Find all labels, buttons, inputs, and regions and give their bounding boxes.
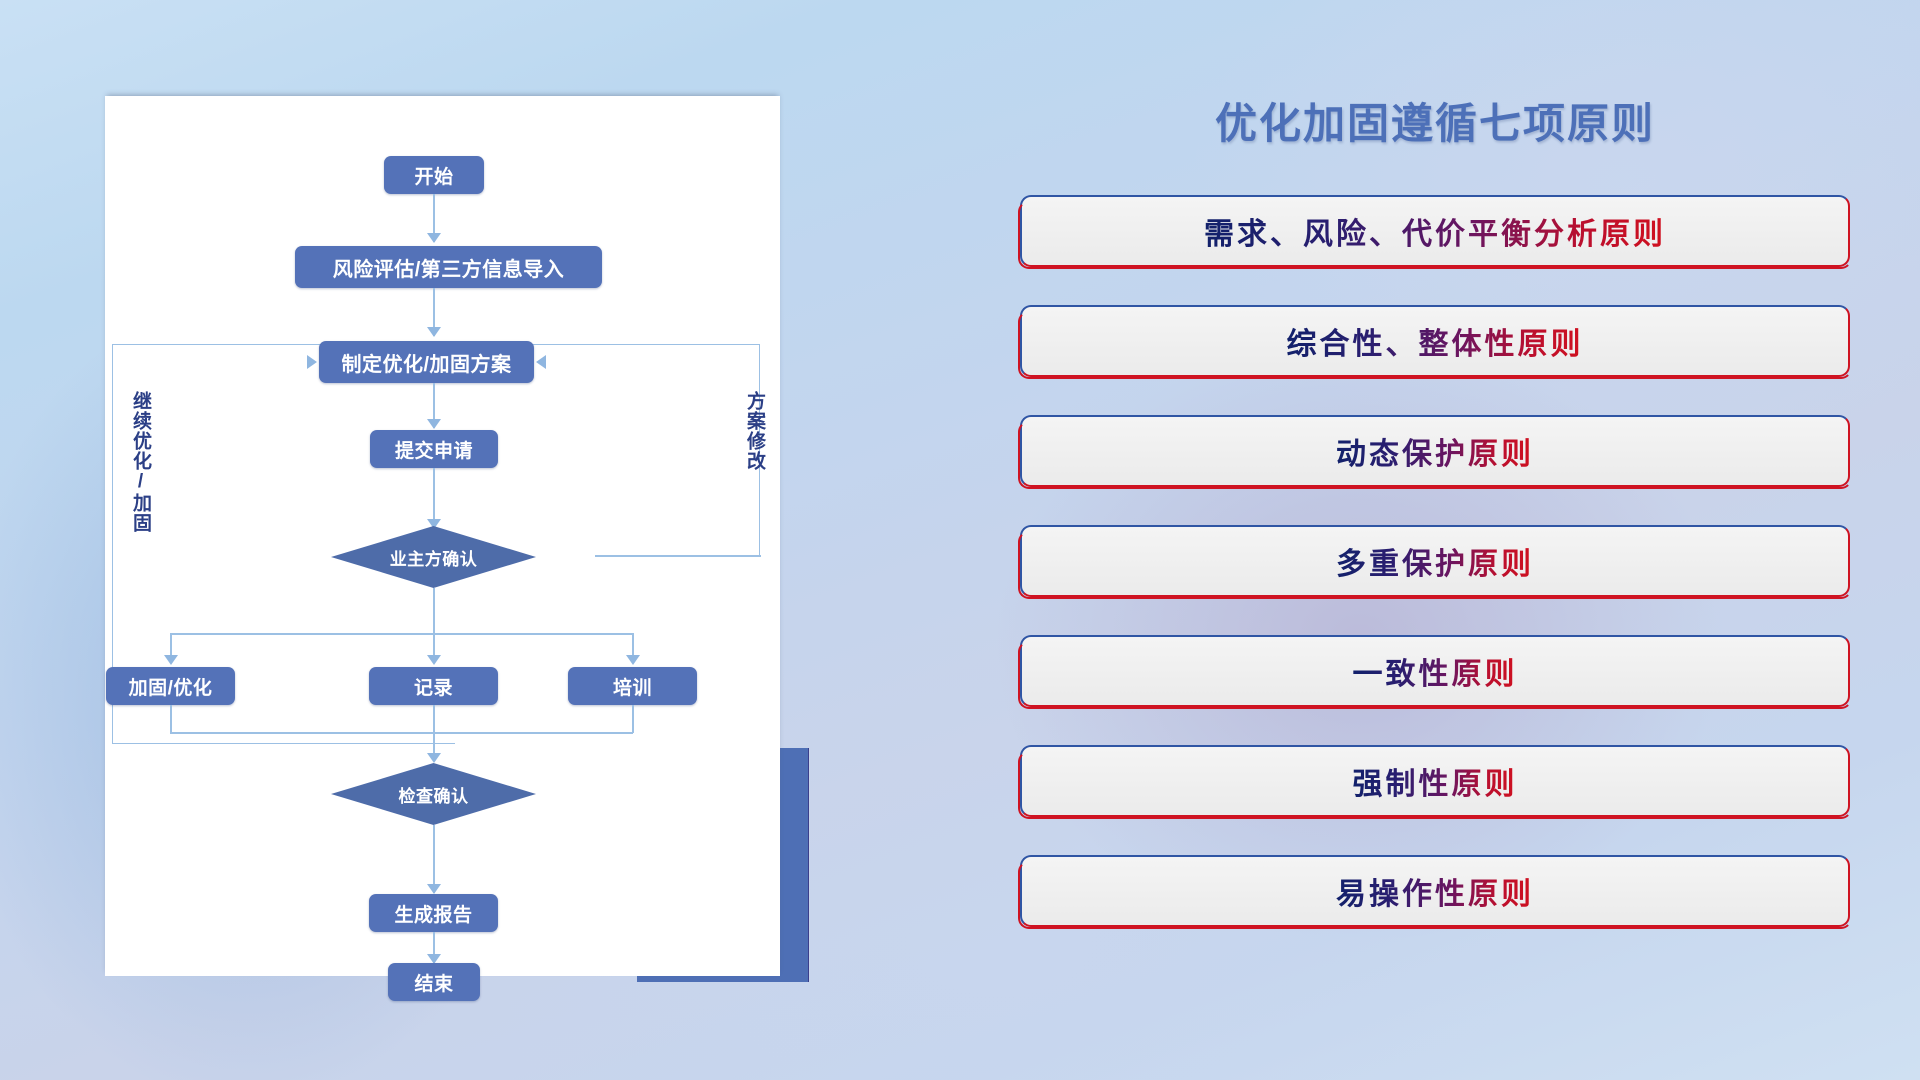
node-generate-report-label: 生成报告 [394, 900, 472, 927]
principle-item[interactable]: 综合性、整体性原则 [1020, 305, 1850, 377]
arrow-to-reinforce [164, 655, 178, 665]
loop-right-bottom-line [595, 555, 761, 557]
node-record[interactable]: 记录 [369, 667, 498, 705]
principle-item[interactable]: 易操作性原则 [1020, 855, 1850, 927]
loop-label-right: 方案修改 [741, 391, 768, 471]
node-risk-assessment-label: 风险评估/第三方信息导入 [333, 253, 565, 282]
arrow-plan-to-submit [427, 419, 441, 429]
principle-item[interactable]: 一致性原则 [1020, 635, 1850, 707]
principles-panel: 优化加固遵循七项原则 需求、风险、代价平衡分析原则 综合性、整体性原则 动态保护… [1020, 90, 1850, 965]
principle-label: 需求、风险、代价平衡分析原则 [1204, 209, 1666, 253]
node-training[interactable]: 培训 [568, 667, 697, 705]
principle-label: 易操作性原则 [1336, 869, 1534, 913]
connector-check-to-report [433, 825, 435, 893]
arrow-check-to-report [427, 884, 441, 894]
connector-merge-left [170, 705, 172, 733]
connector-owner-down [433, 588, 435, 634]
node-training-label: 培训 [613, 673, 652, 700]
node-make-plan-label: 制定优化/加固方案 [341, 348, 511, 377]
flowchart-card: 开始 风险评估/第三方信息导入 制定优化/加固方案 提交申请 业主方确认 加固/… [105, 96, 780, 976]
node-start[interactable]: 开始 [384, 156, 484, 194]
decision-owner-confirm[interactable]: 业主方确认 [331, 526, 536, 588]
arrow-to-record [427, 655, 441, 665]
connector-merge-bus [170, 732, 633, 734]
connector-merge-mid [433, 705, 435, 733]
node-make-plan[interactable]: 制定优化/加固方案 [319, 341, 534, 383]
principle-label: 综合性、整体性原则 [1287, 319, 1584, 363]
decision-check-confirm[interactable]: 检查确认 [331, 763, 536, 825]
loop-label-left: 继续优化/加固 [127, 391, 154, 533]
node-start-label: 开始 [414, 162, 453, 189]
principle-label: 一致性原则 [1353, 649, 1518, 693]
node-risk-assessment[interactable]: 风险评估/第三方信息导入 [295, 246, 602, 288]
arrow-risk-to-plan [427, 327, 441, 337]
node-record-label: 记录 [414, 673, 453, 700]
node-submit-application-label: 提交申请 [395, 436, 473, 463]
node-reinforce-optimize-label: 加固/优化 [129, 673, 213, 700]
principle-item[interactable]: 强制性原则 [1020, 745, 1850, 817]
connector-merge-right [632, 705, 634, 733]
principle-item[interactable]: 多重保护原则 [1020, 525, 1850, 597]
arrow-merge-to-check [427, 753, 441, 763]
principle-label: 强制性原则 [1353, 759, 1518, 803]
arrow-start-to-risk [427, 233, 441, 243]
arrow-left-loop-into-plan [307, 355, 317, 369]
principle-item[interactable]: 需求、风险、代价平衡分析原则 [1020, 195, 1850, 267]
node-reinforce-optimize[interactable]: 加固/优化 [106, 667, 235, 705]
arrow-to-train [626, 655, 640, 665]
principle-label: 多重保护原则 [1336, 539, 1534, 583]
principle-item[interactable]: 动态保护原则 [1020, 415, 1850, 487]
arrow-right-loop-into-plan [536, 355, 546, 369]
panel-title: 优化加固遵循七项原则 [1020, 90, 1850, 151]
node-end[interactable]: 结束 [388, 963, 480, 1001]
node-generate-report[interactable]: 生成报告 [369, 894, 498, 932]
decision-owner-confirm-label: 业主方确认 [390, 545, 478, 570]
principle-label: 动态保护原则 [1336, 429, 1534, 473]
loop-frame-right [501, 344, 760, 556]
node-submit-application[interactable]: 提交申请 [370, 430, 498, 468]
node-end-label: 结束 [414, 969, 453, 996]
connector-split-bus [170, 633, 633, 635]
decision-check-confirm-label: 检查确认 [399, 782, 469, 807]
